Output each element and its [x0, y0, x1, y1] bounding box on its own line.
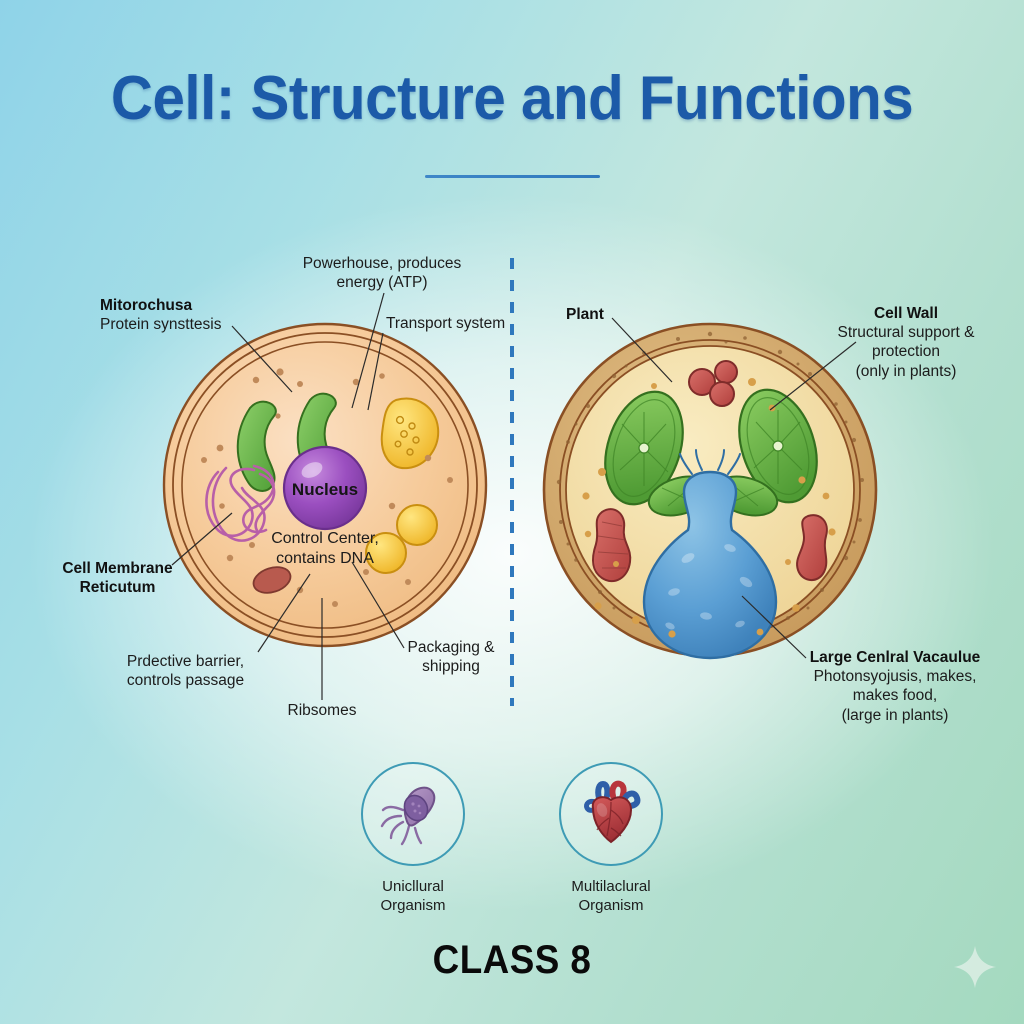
plant-mitochondrion-left [593, 509, 630, 581]
nucleus-label: Nucleus [265, 479, 385, 500]
label-cell-membrane-line1: Cell Membrane [40, 559, 195, 578]
label-cell-wall: Cell Wall Structural support & protectio… [826, 304, 986, 381]
page-title: Cell: Structure and Functions [31, 68, 994, 130]
label-cell-wall-line1: Structural support & [838, 324, 975, 341]
label-mitochondria-desc: Protein synsttesis [100, 316, 221, 333]
label-plant-title: Plant [566, 305, 686, 324]
label-vacuole-line3: (large in plants) [842, 707, 949, 724]
label-packaging: Packaging & shipping [396, 638, 506, 676]
label-vacuole-title: Large Cenlral Vacaulue [800, 648, 990, 667]
amoeba-icon [375, 776, 451, 852]
vesicle-1 [397, 505, 437, 545]
label-central-vacuole: Large Cenlral Vacaulue Photonsyojusis, m… [800, 648, 990, 725]
nucleus-desc-line2: contains DNA [276, 550, 374, 567]
nucleus-desc-line1: Control Center, [271, 530, 379, 547]
label-mitochondria-title: Mitorochusa [100, 296, 280, 315]
plant-mitochondrion-right [797, 515, 827, 580]
label-transport: Transport system [386, 314, 516, 333]
label-cell-membrane-line2: Reticutum [40, 578, 195, 597]
label-plant: Plant [566, 305, 686, 324]
multicellular-icon-circle[interactable] [559, 762, 663, 866]
label-packaging-line2: shipping [422, 658, 480, 675]
label-vacuole-line1: Photonsyojusis, makes, [814, 668, 977, 685]
multicellular-caption: Multilaclural Organism [536, 878, 686, 916]
unicellular-icon-circle[interactable] [361, 762, 465, 866]
label-vacuole-line2: makes food, [853, 687, 937, 704]
label-ribosomes: Ribsomes [262, 701, 382, 720]
unicellular-caption: Unicllural Organism [338, 878, 488, 916]
heart-body [593, 797, 631, 842]
organism-card-multicellular[interactable]: Multilaclural Organism [536, 762, 686, 916]
label-protective-barrier: Prdective barrier, controls passage [108, 652, 263, 690]
poster-canvas: Cell: Structure and Functions [0, 0, 1024, 1024]
multicellular-caption-line1: Multilaclural [571, 878, 650, 895]
class-label: CLASS 8 [41, 938, 983, 983]
label-mitochondria: Mitorochusa Protein synsttesis [100, 296, 280, 334]
organism-icon-row: Unicllural Organism [0, 762, 1024, 916]
label-cell-wall-line3: (only in plants) [856, 363, 957, 380]
label-packaging-line1: Packaging & [407, 639, 494, 656]
sparkle-icon [952, 944, 998, 990]
label-powerhouse-line2: energy (ATP) [336, 274, 427, 291]
nucleus-description: Control Center, contains DNA [250, 529, 400, 569]
unicellular-caption-line2: Organism [380, 897, 445, 914]
multicellular-caption-line2: Organism [578, 897, 643, 914]
heart-icon [573, 776, 649, 852]
label-cell-wall-title: Cell Wall [826, 304, 986, 323]
label-powerhouse-line1: Powerhouse, produces [303, 255, 462, 272]
label-cell-membrane: Cell Membrane Reticutum [40, 559, 195, 597]
label-cell-wall-line2: protection [872, 343, 940, 360]
title-underline [425, 175, 600, 178]
unicellular-caption-line1: Unicllural [382, 878, 444, 895]
label-protective-line2: controls passage [127, 672, 244, 689]
organism-card-unicellular[interactable]: Unicllural Organism [338, 762, 488, 916]
label-protective-line1: Prdective barrier, [127, 653, 244, 670]
label-powerhouse: Powerhouse, produces energy (ATP) [292, 254, 472, 292]
